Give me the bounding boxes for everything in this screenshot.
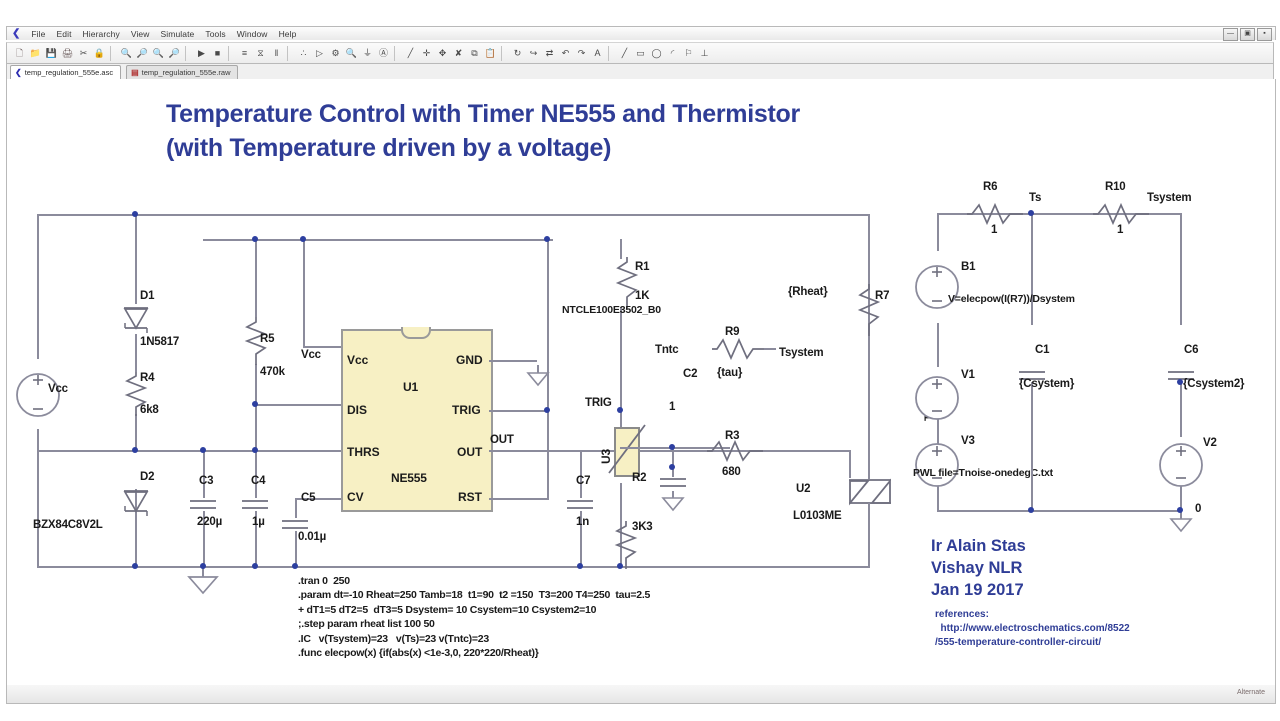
paste-icon[interactable]: 📋 xyxy=(483,46,498,61)
wire-r1-top xyxy=(620,239,622,259)
ic-pin-out: OUT xyxy=(457,445,482,459)
r4-value: 6k8 xyxy=(140,404,159,416)
junction-dot xyxy=(669,464,675,470)
junction-dot xyxy=(617,407,623,413)
circle-icon[interactable]: ◯ xyxy=(649,46,664,61)
wire-c4-top xyxy=(255,450,257,498)
wire-icon[interactable]: ╱ xyxy=(403,46,418,61)
c2-value: 1 xyxy=(669,401,675,413)
wire-b1-v1 xyxy=(937,323,939,367)
wire-gnd-stub xyxy=(489,360,537,362)
c6-value: {Csystem2} xyxy=(1183,378,1244,390)
r10-resistor-symbol[interactable] xyxy=(1093,202,1149,226)
ts-net-label: Ts xyxy=(1029,192,1041,204)
open-folder-icon[interactable]: 📁 xyxy=(28,46,43,61)
v1-refdes: V1 xyxy=(961,369,975,381)
r6-resistor-symbol[interactable] xyxy=(967,202,1023,226)
b1-expression: V=elecpow(I(R7))/Dsystem xyxy=(948,293,1075,305)
ic-pin-trig: TRIG xyxy=(452,403,481,417)
ruler-icon[interactable]: ⊥ xyxy=(697,46,712,61)
r9-resistor-symbol[interactable] xyxy=(712,337,764,361)
c7-capacitor-symbol[interactable] xyxy=(565,496,595,514)
menubar: ❮ File Edit Hierarchy View Simulate Tool… xyxy=(6,27,1274,41)
r6-refdes: R6 xyxy=(983,181,997,193)
wire-ts-down xyxy=(1031,213,1033,325)
find-icon[interactable]: 🔍 xyxy=(344,46,359,61)
junction-dot xyxy=(577,563,583,569)
r3-value: 680 xyxy=(722,466,741,478)
tsystem-net-label-right: Tsystem xyxy=(1147,192,1191,204)
d1-refdes: D1 xyxy=(140,290,154,302)
junction-dot xyxy=(300,236,306,242)
c3-value: 220µ xyxy=(197,516,222,528)
statusbar: Alternate xyxy=(6,685,1276,704)
ic-pin-dis: DIS xyxy=(347,403,367,417)
ground-symbol-c2 xyxy=(661,491,685,513)
d2-refdes: D2 xyxy=(140,471,154,483)
r10-value: 1 xyxy=(1117,224,1123,236)
trig-net-label: TRIG xyxy=(585,397,612,409)
schematic-tab-icon: ❮ xyxy=(15,68,22,77)
d1-value: 1N5817 xyxy=(140,336,179,348)
back-chevron-icon[interactable]: ❮ xyxy=(12,29,20,39)
spice-directives[interactable]: .tran 0 250 .param dt=-10 Rheat=250 Tamb… xyxy=(298,574,650,660)
ic-refdes: U1 xyxy=(403,380,418,394)
lock-icon[interactable]: 🔒 xyxy=(92,46,107,61)
r7-refdes: R7 xyxy=(875,290,889,302)
u2-triac-symbol[interactable] xyxy=(843,471,897,521)
r1-refdes: R1 xyxy=(635,261,649,273)
toolbar-separator xyxy=(287,46,293,61)
r6-value: 1 xyxy=(991,224,997,236)
junction-dot xyxy=(200,447,206,453)
wire-r7-branch-top xyxy=(868,214,870,479)
menu-view[interactable]: View xyxy=(131,29,150,39)
c4-value: 1µ xyxy=(252,516,265,528)
schematic-title: Temperature Control with Timer NE555 and… xyxy=(166,97,800,165)
toolbar-separator xyxy=(185,46,191,61)
toolbar: 🗋📁💾🖨✂🔒🔍🔎🔍🔎▶■≡⧖‖∴▷⚙🔍⏚Ⓐ╱✛✥✘⧉📋↻↪⇄↶↷A╱▭◯◜⚐⊥ xyxy=(6,42,1274,64)
ic-part-name: NE555 xyxy=(391,471,427,485)
r10-refdes: R10 xyxy=(1105,181,1126,193)
c6-refdes: C6 xyxy=(1184,344,1198,356)
r7-value: {Rheat} xyxy=(788,286,828,298)
tab-schematic-label: temp_regulation_555e.asc xyxy=(25,68,113,77)
document-tabbar: ❮ temp_regulation_555e.asc ▤ temp_regula… xyxy=(6,64,1274,79)
wire-d1-top xyxy=(135,214,137,304)
r9-refdes: R9 xyxy=(725,326,739,338)
wire-triac-bottom xyxy=(868,503,870,568)
r3-resistor-symbol[interactable] xyxy=(707,439,763,463)
junction-dot xyxy=(252,401,258,407)
spice-directive-icon[interactable]: ≡ xyxy=(237,46,252,61)
resistor-icon[interactable]: ⧖ xyxy=(253,46,268,61)
junction-dot xyxy=(132,447,138,453)
wire-r9-right xyxy=(764,348,776,350)
junction-dot xyxy=(544,236,550,242)
menu-edit[interactable]: Edit xyxy=(57,29,72,39)
c5-value: 0.01µ xyxy=(298,531,326,543)
wire-c6-v2 xyxy=(1180,382,1182,437)
junction-dot xyxy=(252,236,258,242)
c5-refdes: C5 xyxy=(301,492,315,504)
c2-capacitor-symbol[interactable] xyxy=(659,475,687,491)
menu-simulate[interactable]: Simulate xyxy=(161,29,195,39)
wire-r5-mid xyxy=(255,404,257,450)
wire-c1-bottom xyxy=(1031,382,1033,512)
junction-dot xyxy=(1028,507,1034,513)
ground-symbol-gnd-pin xyxy=(525,365,551,387)
c1-value: {Csystem} xyxy=(1019,378,1074,390)
wire-thermal-bottom-rail xyxy=(937,510,1182,512)
c7-value: 1n xyxy=(576,516,589,528)
schematic-title-line2: (with Temperature driven by a voltage) xyxy=(166,131,800,165)
ic-notch-icon xyxy=(401,327,431,339)
zero-net-label: 0 xyxy=(1195,503,1201,515)
wire-d2-top xyxy=(135,414,137,451)
rotate-icon[interactable]: ↻ xyxy=(510,46,525,61)
toolbar-separator xyxy=(394,46,400,61)
menu-window[interactable]: Window xyxy=(237,29,268,39)
run-simulate-icon[interactable]: ▶ xyxy=(194,46,209,61)
v2-refdes: V2 xyxy=(1203,437,1217,449)
redo-icon[interactable]: ↷ xyxy=(574,46,589,61)
tab-waveform[interactable]: ▤ temp_regulation_555e.raw xyxy=(126,65,238,79)
c7-refdes: C7 xyxy=(576,475,590,487)
c3-refdes: C3 xyxy=(199,475,213,487)
zoom-fit-icon[interactable]: 🔎 xyxy=(167,46,182,61)
junction-dot xyxy=(669,444,675,450)
wire-r1-bottom xyxy=(620,307,622,409)
c4-refdes: C4 xyxy=(251,475,265,487)
d2-value: BZX84C8V2L xyxy=(33,519,103,531)
wire-v3-gndrail xyxy=(937,486,939,512)
junction-dot xyxy=(132,563,138,569)
wire-r5-dis xyxy=(255,364,257,404)
delete-icon[interactable]: ✘ xyxy=(451,46,466,61)
schematic-canvas[interactable]: Temperature Control with Timer NE555 and… xyxy=(6,79,1276,686)
menu-help[interactable]: Help xyxy=(279,29,297,39)
r4-refdes: R4 xyxy=(140,372,154,384)
wire-rst-stub xyxy=(489,498,549,500)
wire-trig-stub xyxy=(489,410,549,412)
wire-out-rail xyxy=(489,450,849,452)
tsystem-net-label-left: Tsystem xyxy=(779,347,823,359)
ground-icon[interactable]: ⏚ xyxy=(360,46,375,61)
junction-dot xyxy=(617,563,623,569)
move-icon[interactable]: ✛ xyxy=(419,46,434,61)
wire-r4-link xyxy=(135,334,137,372)
r5-value: 470k xyxy=(260,366,285,378)
schematic-title-line1: Temperature Control with Timer NE555 and… xyxy=(166,97,800,131)
wire-b1-top xyxy=(937,213,939,251)
junction-dot xyxy=(252,563,258,569)
out-net-label: OUT xyxy=(490,434,514,446)
junction-dot xyxy=(544,407,550,413)
toolbar-separator xyxy=(608,46,614,61)
junction-dot xyxy=(1028,210,1034,216)
thermistor-refdes: U3 xyxy=(599,449,613,464)
ic-pin-thrs: THRS xyxy=(347,445,380,459)
d2-zener-diode-symbol[interactable] xyxy=(119,485,153,519)
wire-c3-top xyxy=(203,450,205,498)
label-icon[interactable]: ⚐ xyxy=(681,46,696,61)
capacitor-icon[interactable]: ‖ xyxy=(269,46,284,61)
wire-c5-top xyxy=(295,498,297,518)
component-icon[interactable]: ⚙ xyxy=(328,46,343,61)
r5-refdes: R5 xyxy=(260,333,274,345)
new-schematic-icon[interactable]: 🗋 xyxy=(12,46,27,61)
d1-schottky-diode-symbol[interactable] xyxy=(119,302,153,336)
junction-dot xyxy=(252,447,258,453)
wire-dis-to-ic xyxy=(255,404,341,406)
b1-behavioral-source-symbol[interactable] xyxy=(915,251,959,323)
r9-value: {tau} xyxy=(717,367,742,379)
line-icon[interactable]: ╱ xyxy=(617,46,632,61)
thermistor-part: NTCLE100E3502_B0 xyxy=(562,304,661,316)
tab-schematic[interactable]: ❮ temp_regulation_555e.asc xyxy=(10,65,121,79)
statusbar-text: Alternate xyxy=(1237,689,1265,696)
zoom-out-icon[interactable]: 🔍 xyxy=(151,46,166,61)
wire-tsystem-down xyxy=(1180,213,1182,325)
junction-dot xyxy=(292,563,298,569)
undo-icon[interactable]: ↶ xyxy=(558,46,573,61)
c3-capacitor-symbol[interactable] xyxy=(188,496,218,514)
wire-r5-top xyxy=(255,239,257,317)
tntc-net-label: Tntc xyxy=(655,344,678,356)
menu-file[interactable]: File xyxy=(31,29,45,39)
drag-wire-icon[interactable]: ↪ xyxy=(526,46,541,61)
vcc-net-label: Vcc xyxy=(301,349,321,361)
u2-refdes: U2 xyxy=(796,483,810,495)
toolbar-separator xyxy=(228,46,234,61)
r2-refdes: R2 xyxy=(632,472,646,484)
b1-refdes: B1 xyxy=(961,261,975,273)
wire-vccnet-to-ic xyxy=(303,346,341,348)
ic-pin-cv: CV xyxy=(347,490,364,504)
ltspice-window: — ▣ ▪ ❮ File Edit Hierarchy View Simulat… xyxy=(0,0,1280,721)
references-block: references: http://www.electroschematics… xyxy=(935,608,1130,650)
author-block: Ir Alain Stas Vishay NLR Jan 19 2017 xyxy=(931,535,1026,601)
wire-top-rail xyxy=(37,214,869,216)
ground-symbol-thermal xyxy=(1169,512,1193,534)
junction-dot xyxy=(1177,507,1183,513)
waveform-tab-icon: ▤ xyxy=(131,68,139,77)
menu-tools[interactable]: Tools xyxy=(205,29,225,39)
u2-part: L0103ME xyxy=(793,510,841,522)
toolbar-separator xyxy=(501,46,507,61)
wire-c2-top xyxy=(672,447,674,477)
r2-value: 3K3 xyxy=(632,521,653,533)
wire-vcc-top xyxy=(37,214,39,359)
zoom-area-icon[interactable]: 🔍 xyxy=(119,46,134,61)
drag-icon[interactable]: ✥ xyxy=(435,46,450,61)
ic-pin-gnd: GND xyxy=(456,353,483,367)
arc-icon[interactable]: ◜ xyxy=(665,46,680,61)
mirror-icon[interactable]: ⇄ xyxy=(542,46,557,61)
text-icon[interactable]: A xyxy=(590,46,605,61)
ic-pin-vcc: Vcc xyxy=(347,353,368,367)
c1-refdes: C1 xyxy=(1035,344,1049,356)
menu-hierarchy[interactable]: Hierarchy xyxy=(83,29,120,39)
net-label-icon[interactable]: Ⓐ xyxy=(376,46,391,61)
inductor-icon[interactable]: ∴ xyxy=(296,46,311,61)
junction-dot xyxy=(132,211,138,217)
junction-dot xyxy=(1177,379,1183,385)
ground-symbol-main xyxy=(180,568,226,596)
cut-scissors-icon[interactable]: ✂ xyxy=(76,46,91,61)
duplicate-icon[interactable]: ⧉ xyxy=(467,46,482,61)
rect-icon[interactable]: ▭ xyxy=(633,46,648,61)
junction-dot xyxy=(200,563,206,569)
wire-c7-top xyxy=(580,450,582,498)
save-icon[interactable]: 💾 xyxy=(44,46,59,61)
r3-refdes: R3 xyxy=(725,430,739,442)
toolbar-separator xyxy=(110,46,116,61)
c4-capacitor-symbol[interactable] xyxy=(240,496,270,514)
print-icon[interactable]: 🖨 xyxy=(60,46,75,61)
wire-trig-rst-link xyxy=(547,410,549,500)
zoom-back-icon[interactable]: 🔎 xyxy=(135,46,150,61)
r1-value: 1K xyxy=(635,290,649,302)
vcc-source-label: Vcc xyxy=(48,383,68,395)
wire-bottom-rail xyxy=(37,566,869,568)
v3-refdes: V3 xyxy=(961,435,975,447)
diode-icon[interactable]: ▷ xyxy=(312,46,327,61)
wire-vccnet-down xyxy=(303,239,305,346)
c2-refdes: C2 xyxy=(683,368,697,380)
halt-simulation-icon[interactable]: ■ xyxy=(210,46,225,61)
ic-pin-rst: RST xyxy=(458,490,482,504)
vcc-voltage-source-symbol[interactable] xyxy=(16,359,60,431)
tab-waveform-label: temp_regulation_555e.raw xyxy=(142,68,231,77)
